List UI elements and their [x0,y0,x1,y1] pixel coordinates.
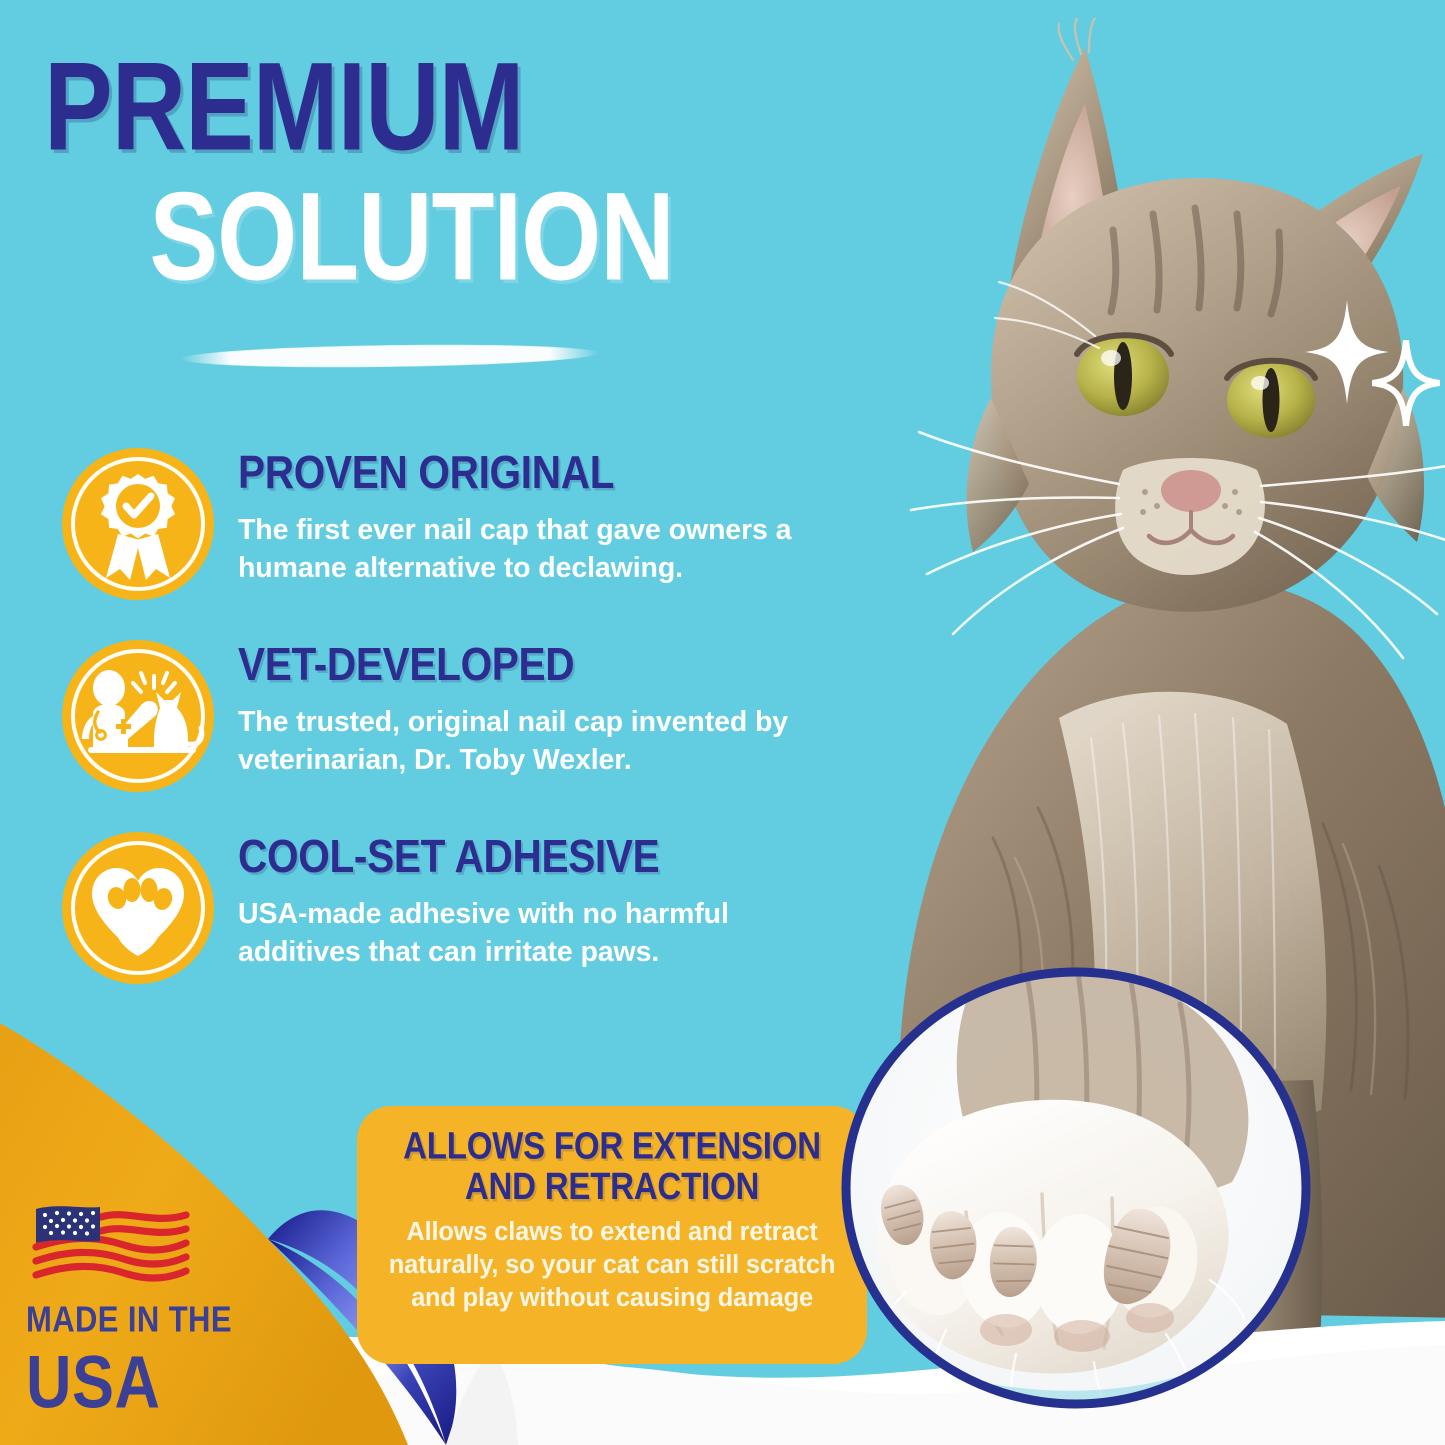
usa-label: USA [26,1346,256,1420]
sparkle-outline-icon [1372,340,1440,426]
cat-paw-with-nail-caps-closeup [836,962,1316,1414]
headline-line-2: SOLUTION [44,178,779,295]
feature-title: VET-DEVELOPED [238,642,845,688]
feature-body: The first ever nail cap that gave owners… [238,511,818,587]
feature-body: The trusted, original nail cap invented … [238,703,818,779]
callout-title-line-1: ALLOWS FOR EXTENSION [375,1126,849,1167]
award-ribbon-check-icon [62,448,214,600]
feature-item-proven-original: PROVEN ORIGINAL The first ever nail cap … [62,448,822,600]
callout-title-line-2: AND RETRACTION [375,1167,849,1208]
callout-title: ALLOWS FOR EXTENSION AND RETRACTION [375,1126,849,1207]
feature-list: PROVEN ORIGINAL The first ever nail cap … [62,448,822,1024]
feature-item-cool-set-adhesive: COOL-SET ADHESIVE USA-made adhesive with… [62,832,822,984]
product-infographic: PREMIUM SOLUTION [0,0,1445,1445]
heart-paw-icon [62,832,214,984]
made-in-usa-badge: MADE IN THE USA [26,1203,256,1409]
page-title: PREMIUM SOLUTION [44,48,844,274]
feature-title: COOL-SET ADHESIVE [238,834,845,880]
callout-body: Allows claws to extend and retract natur… [375,1216,849,1315]
title-underline-swoosh [180,342,600,370]
extension-retraction-callout: ALLOWS FOR EXTENSION AND RETRACTION Allo… [357,1106,867,1364]
us-flag-icon [26,1203,192,1289]
feature-title: PROVEN ORIGINAL [238,450,845,496]
made-in-the-label: MADE IN THE [26,1301,256,1338]
vet-high-five-cat-icon [62,640,214,792]
feature-body: USA-made adhesive with no harmful additi… [238,895,818,971]
headline-line-1: PREMIUM [44,48,844,165]
feature-item-vet-developed: VET-DEVELOPED The trusted, original nail… [62,640,822,792]
